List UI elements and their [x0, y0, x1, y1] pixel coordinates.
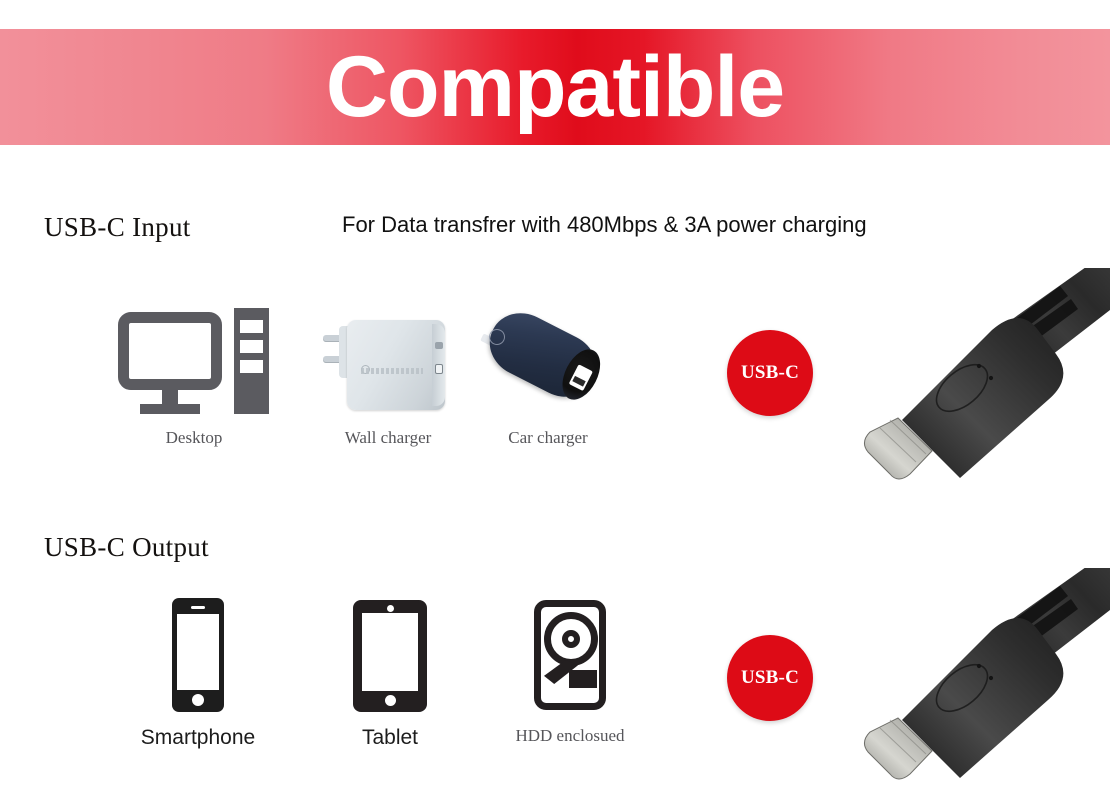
wall-charger-icon: [313, 308, 463, 418]
section-title-usb-c-input: USB-C Input: [44, 212, 191, 243]
compat-item-desktop: Desktop: [104, 308, 284, 448]
compat-item-tablet: Tablet: [320, 598, 460, 750]
usb-c-connector-output: [860, 568, 1110, 798]
page-title: Compatible: [0, 44, 1110, 130]
hdd-enclosure-icon: [524, 598, 616, 716]
car-charger-icon: [473, 308, 623, 418]
compat-item-label: HDD enclosued: [490, 726, 650, 746]
desktop-computer-icon: [118, 308, 270, 418]
usb-c-connector-input: [860, 268, 1110, 498]
compat-item-label: Smartphone: [118, 726, 278, 750]
compat-item-label: Car charger: [458, 428, 638, 448]
usb-c-badge-input: USB-C: [727, 330, 813, 416]
compat-item-wall-charger: Wall charger: [298, 308, 478, 448]
tablet-icon: [345, 598, 435, 716]
compat-item-smartphone: Smartphone: [118, 598, 278, 750]
compat-item-hdd-enclosure: HDD enclosued: [490, 598, 650, 746]
usb-c-badge-label: USB-C: [727, 667, 813, 689]
compat-item-label: Wall charger: [298, 428, 478, 448]
smartphone-icon: [158, 598, 238, 716]
section-subtitle-usb-c-input: For Data transfrer with 480Mbps & 3A pow…: [342, 212, 867, 238]
compat-item-label: Desktop: [104, 428, 284, 448]
header-banner: Compatible: [0, 29, 1110, 145]
usb-c-badge-output: USB-C: [727, 635, 813, 721]
compat-item-label: Tablet: [320, 726, 460, 750]
compat-item-car-charger: Car charger: [458, 308, 638, 448]
section-title-usb-c-output: USB-C Output: [44, 532, 209, 563]
usb-c-badge-label: USB-C: [727, 362, 813, 384]
